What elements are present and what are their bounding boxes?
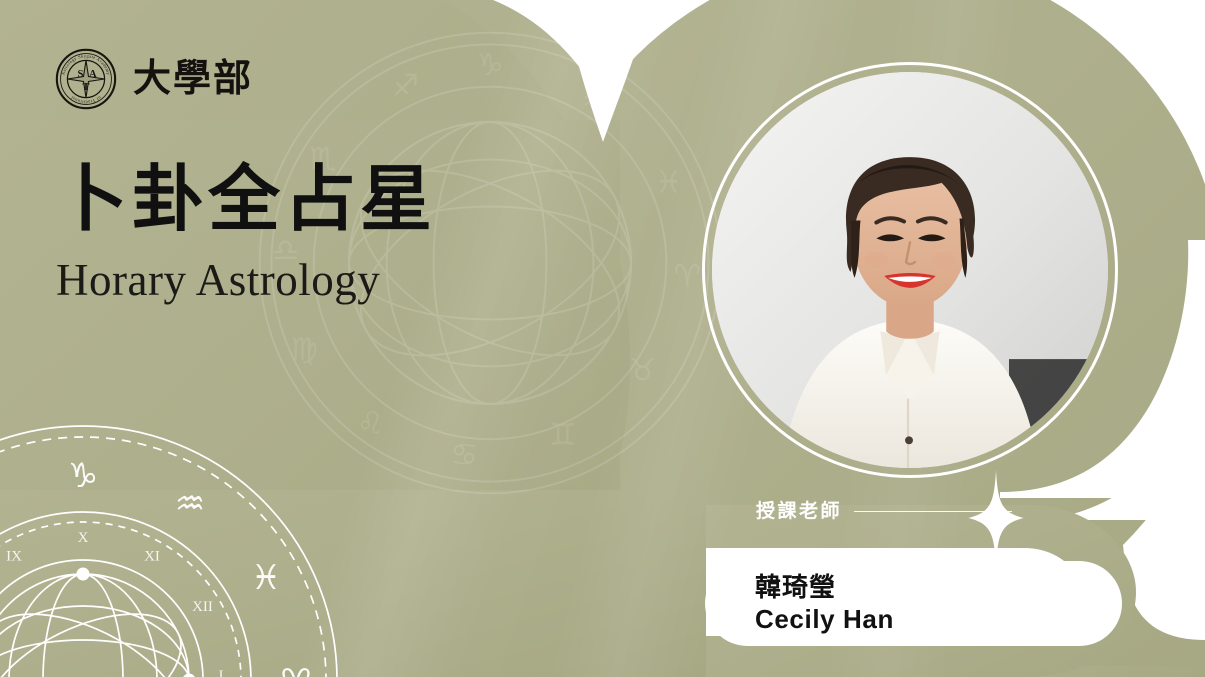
brand-header: S A T Astrology Skygate Academy of Tradi… — [55, 48, 253, 110]
svg-text:♒: ♒ — [582, 83, 609, 118]
person-photo-icon — [712, 72, 1108, 468]
svg-text:IX: IX — [6, 548, 22, 564]
instructor-name-card: 韓琦瑩 Cecily Han — [705, 561, 1122, 646]
svg-text:♍: ♍ — [291, 332, 318, 367]
svg-text:♈: ♈ — [674, 260, 701, 295]
svg-text:♈: ♈ — [281, 662, 311, 677]
svg-text:♉: ♉ — [629, 354, 656, 389]
svg-text:♑: ♑ — [68, 456, 98, 496]
instructor-name-en: Cecily Han — [755, 605, 1122, 635]
svg-text:♐: ♐ — [392, 69, 419, 104]
svg-text:♒: ♒ — [175, 484, 205, 524]
svg-text:X: X — [78, 530, 89, 546]
instructor-name-zh: 韓琦瑩 — [755, 573, 1122, 603]
department-label: 大學部 — [133, 60, 253, 98]
sat-seal-icon: S A T Astrology Skygate Academy of Tradi… — [55, 48, 117, 110]
four-point-sparkle-icon — [968, 470, 1024, 566]
svg-text:♓: ♓ — [655, 166, 682, 201]
svg-text:XII: XII — [192, 599, 213, 615]
instructor-label: 授課老師 — [756, 502, 842, 521]
svg-text:XI: XI — [144, 548, 160, 564]
course-title-en: Horary Astrology — [56, 253, 436, 307]
svg-text:I: I — [219, 668, 224, 677]
svg-text:♊: ♊ — [549, 418, 576, 453]
title-block: 卜卦全占星 Horary Astrology — [56, 160, 436, 307]
svg-text:♓: ♓ — [251, 558, 281, 598]
svg-text:T: T — [82, 82, 89, 93]
course-title-zh: 卜卦全占星 — [56, 160, 436, 241]
svg-text:S: S — [77, 69, 83, 80]
instructor-portrait-frame — [702, 62, 1118, 478]
svg-text:♋: ♋ — [450, 438, 477, 473]
svg-text:♑: ♑ — [476, 48, 503, 83]
poster-canvas: ♑♒♓ ♈♉♊ ♋♌♍ ♎♏♐ S A T Astrology Skygate … — [0, 0, 1205, 677]
svg-text:♌: ♌ — [356, 406, 383, 441]
zodiac-wheel-icon: ♑ ♐ ♏ ♎ ♍ ♌ ♋ ♊ ♉ ♈ ♓ ♒ X IX VIII VII VI… — [0, 415, 348, 677]
instructor-portrait — [712, 72, 1108, 468]
svg-text:A: A — [89, 69, 97, 80]
